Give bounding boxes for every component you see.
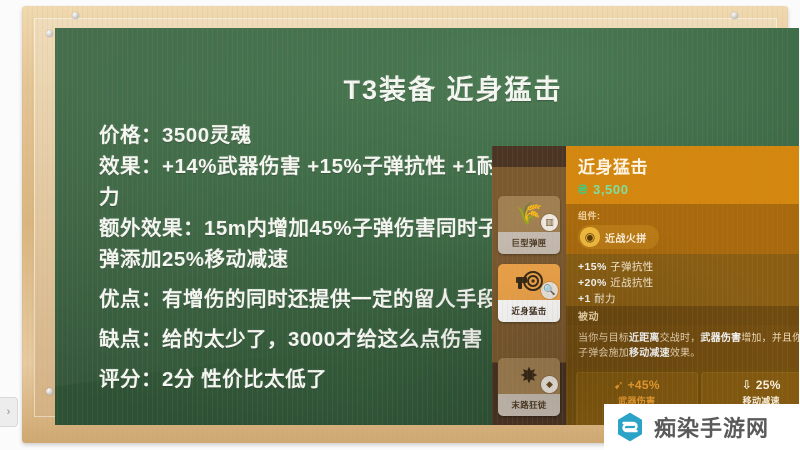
item-card-close-quarters[interactable]: 🔍 近身猛击 [498, 264, 560, 322]
board-line-pros: 优点：有增伤的同时还提供一定的留人手段 [99, 284, 503, 315]
stat-row: +15% 子弹抗性 [578, 259, 799, 275]
arrow-up-icon: ➹ [614, 378, 624, 392]
frame-screw-bottom-left [46, 388, 53, 395]
component-icon: ◉ [580, 227, 600, 247]
item-card-last-stand[interactable]: ✸ ◆ 末路狂徒 [498, 358, 560, 416]
item-label: 末路狂徒 [498, 394, 560, 416]
stat-label: 耐力 [594, 293, 616, 305]
burst-figure-icon: ✸ [520, 365, 538, 387]
board-line-cons: 缺点：给的太少了，3000才给这么点伤害 [99, 324, 503, 355]
detail-header: 近身猛击 ₴ 3,500 [566, 146, 799, 204]
watermark-text: 痴染手游网 [654, 411, 769, 443]
desc-part-bold: 武器伤害 [700, 333, 741, 344]
component-label: 近战火拼 [605, 230, 647, 245]
item-label: 近身猛击 [498, 300, 560, 322]
stat-row: +1 耐力 [578, 291, 799, 307]
stat-box-value-row: ➹ +45% [579, 378, 695, 392]
frame-screw-top-right [731, 12, 738, 19]
item-list: 🌾 ▥ 巨型弹匣 [492, 146, 566, 425]
game-item-panel: 🌾 ▥ 巨型弹匣 [492, 146, 799, 425]
page-root: › T3装备 近身猛击 价格：3500灵魂 效果：+14%武器伤害 +15%子弹… [0, 0, 800, 450]
stat-label: 近战抗性 [610, 277, 654, 289]
board-line-extra: 额外效果：15m内增加45%子弹伤害同时子弹添加25%移动减速 [99, 213, 503, 275]
stat-box-value: 25% [756, 378, 781, 392]
desc-part: 当你与目标 [578, 333, 629, 344]
passive-description: 当你与目标近距离交战时，武器伤害增加，并且你的子弹会施加移动减速效果。 [566, 325, 799, 368]
board-line-price: 价格：3500灵魂 [99, 120, 503, 151]
stat-value: +15% [578, 261, 607, 273]
stat-row: +20% 近战抗性 [578, 275, 799, 291]
board-line-effect: 效果：+14%武器伤害 +15%子弹抗性 +1耐力 [99, 151, 503, 213]
watermark: 痴染手游网 [604, 404, 800, 450]
chalkboard-frame: T3装备 近身猛击 价格：3500灵魂 效果：+14%武器伤害 +15%子弹抗性… [22, 6, 788, 443]
stat-value: +20% [578, 277, 607, 289]
frame-screw-top-left [72, 12, 79, 19]
item-label: 巨型弹匣 [498, 232, 560, 254]
detail-item-name: 近身猛击 [578, 153, 799, 178]
frame-screw-top-left-2 [46, 30, 53, 37]
board-body-text: 价格：3500灵魂 效果：+14%武器伤害 +15%子弹抗性 +1耐力 额外效果… [99, 120, 503, 395]
detail-stats-section: +15% 子弹抗性 +20% 近战抗性 +1 耐力 [566, 254, 799, 306]
sidebar-collapse-arrow[interactable]: › [0, 397, 18, 427]
item-detail-card: 近身猛击 ₴ 3,500 组件: ◉ 近战火拼 [566, 146, 799, 425]
gun-target-icon [514, 270, 544, 294]
stat-box-value: +45% [628, 378, 660, 392]
item-card-giant-magazine[interactable]: 🌾 ▥ 巨型弹匣 [498, 196, 560, 254]
board-line-rating: 评分：2分 性价比太低了 [99, 364, 503, 395]
stat-box-value-row: ⇩ 25% [704, 378, 800, 392]
item-icon-giant-magazine: 🌾 ▥ [498, 196, 560, 232]
magnify-badge-icon: 🔍 [541, 282, 558, 299]
wheat-icon: 🌾 [515, 203, 542, 225]
passive-section-header: 被动 [566, 306, 799, 325]
desc-part-bold: 移动减速 [629, 348, 670, 359]
passive-label: 被动 [578, 308, 599, 323]
stat-label: 子弹抗性 [610, 261, 654, 273]
soul-currency-icon: ₴ [578, 183, 589, 196]
item-icon-close-quarters: 🔍 [498, 264, 560, 300]
item-badge-icon: ▥ [541, 214, 558, 231]
chevron-right-icon: › [7, 407, 11, 418]
item-icon-last-stand: ✸ ◆ [498, 358, 560, 394]
desc-part-bold: 近距离 [629, 333, 660, 344]
detail-price-value: 3,500 [593, 182, 629, 197]
chalkboard-surface: T3装备 近身猛击 价格：3500灵魂 效果：+14%武器伤害 +15%子弹抗性… [55, 28, 799, 425]
slow-icon: ⇩ [742, 378, 752, 392]
stat-value: +1 [578, 293, 591, 305]
components-label: 组件: [578, 209, 799, 222]
desc-part: 交战时， [660, 333, 701, 344]
site-logo-icon [614, 411, 646, 443]
desc-part: 效果。 [670, 348, 701, 359]
item-badge-icon: ◆ [541, 376, 558, 393]
detail-components-section: 组件: ◉ 近战火拼 [566, 204, 799, 254]
detail-price-row: ₴ 3,500 [578, 182, 799, 197]
page-title: T3装备 近身猛击 [55, 68, 799, 107]
component-pill-melee-brawl[interactable]: ◉ 近战火拼 [578, 225, 659, 249]
